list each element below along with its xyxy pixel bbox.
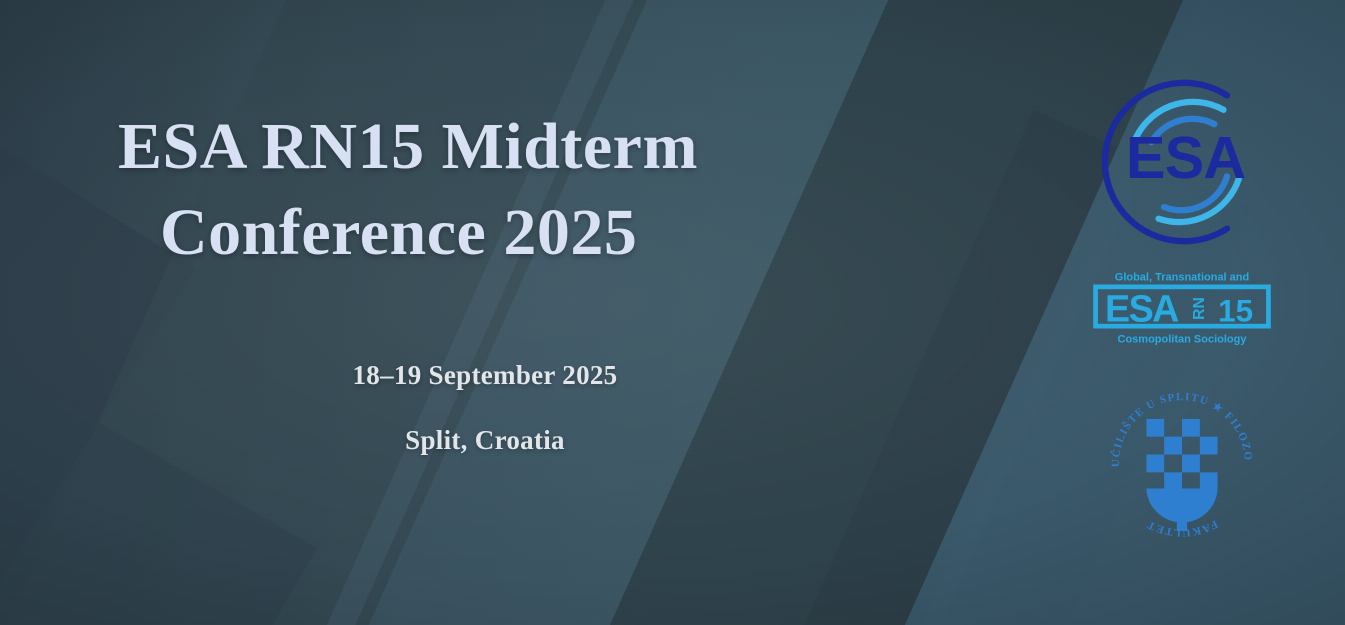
page-title: ESA RN15 Midterm Conference 2025 — [118, 104, 918, 276]
rn15-wordmark: ESA — [1105, 287, 1179, 329]
conference-location: Split, Croatia — [0, 425, 970, 456]
svg-text:15: 15 — [1218, 293, 1253, 328]
conference-dates: 18–19 September 2025 — [0, 360, 970, 391]
rn15-tagline-top: Global, Transnational and — [1115, 272, 1249, 284]
conference-banner: ESA RN15 Midterm Conference 2025 18–19 S… — [0, 0, 1345, 625]
rn15-tagline-bottom: Cosmopolitan Sociology — [1118, 334, 1248, 346]
banner-text-column: ESA RN15 Midterm Conference 2025 18–19 S… — [0, 0, 980, 625]
page-title-line-1: ESA RN15 Midterm — [118, 104, 918, 190]
seal-foot-square — [1177, 521, 1187, 531]
svg-text:ESA: ESA — [1126, 124, 1245, 191]
page-title-line-2: Conference 2025 — [160, 190, 918, 276]
esa-rn15-network-logo: Global, Transnational and ESA RN 15 Cosm… — [1087, 268, 1277, 356]
university-of-split-faculty-of-humanities-seal: SVEUČILIŠTE U SPLITU ★ FILOZOFSKI FAKULT… — [1097, 378, 1267, 548]
rn15-network-mark: RN 15 — [1191, 293, 1253, 328]
svg-text:RN: RN — [1191, 297, 1208, 320]
logo-column: ESA Global, Transnational and ESA RN 15 … — [1077, 72, 1287, 548]
esa-logo: ESA — [1092, 72, 1272, 252]
seal-checkerboard-shield — [1128, 419, 1235, 524]
